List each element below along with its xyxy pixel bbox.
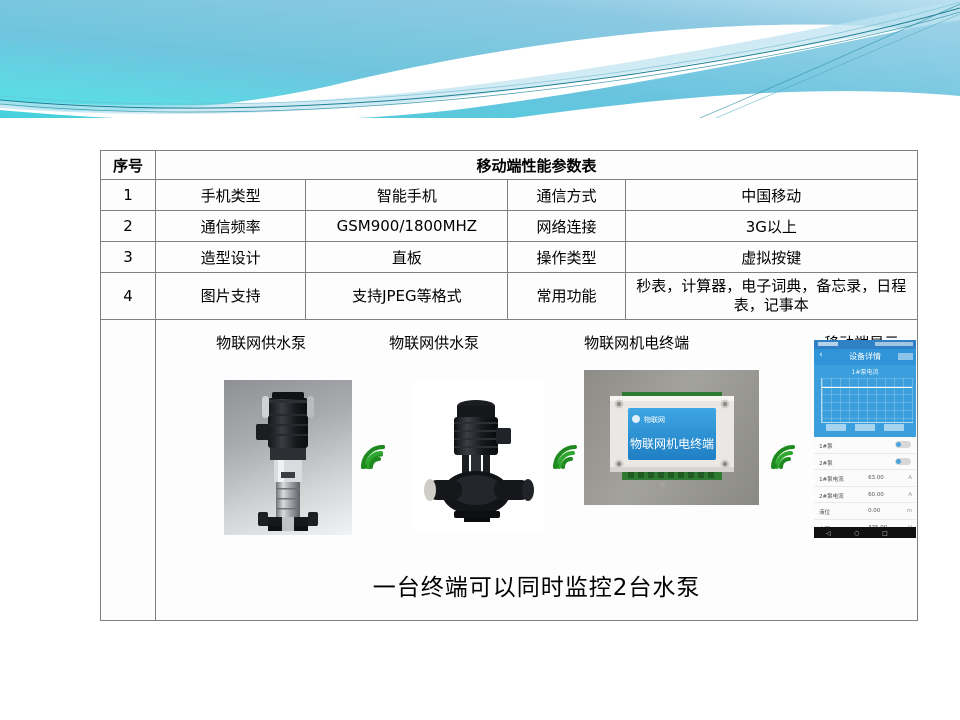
- row-key-2: 操作类型: [508, 242, 625, 273]
- row-value-1: GSM900/1800MHZ: [306, 211, 508, 242]
- list-item[interactable]: 液位 0.00 m: [814, 503, 916, 520]
- phone-system-nav: ◁ ○ □: [814, 527, 916, 538]
- list-item-label: 2#泵电流: [819, 492, 844, 500]
- media-row-index: [101, 320, 156, 621]
- photo-pump-inline: [414, 380, 544, 532]
- row-key-1: 手机类型: [156, 180, 306, 211]
- list-item[interactable]: 2#泵: [814, 454, 916, 471]
- list-item-unit: A: [908, 475, 912, 481]
- list-item-label: 1#泵电流: [819, 475, 844, 483]
- media-caption: 一台终端可以同时监控2台水泵: [156, 568, 917, 602]
- wave-banner: [0, 0, 960, 118]
- row-key-1: 通信频率: [156, 211, 306, 242]
- list-item[interactable]: 1#泵电流 63.00 A: [814, 470, 916, 487]
- status-carrier: [818, 342, 838, 346]
- table-row: 1 手机类型 智能手机 通信方式 中国移动: [101, 180, 918, 211]
- media-label-2: 物联网供水泵: [389, 332, 479, 353]
- list-item-unit: m: [907, 508, 912, 514]
- row-value-1: 智能手机: [306, 180, 508, 211]
- row-index: 4: [101, 273, 156, 320]
- table-header-index: 序号: [101, 151, 156, 180]
- list-item[interactable]: 1#泵: [814, 437, 916, 454]
- list-item-label: 2#泵: [819, 459, 833, 467]
- chart-range-button[interactable]: [884, 424, 904, 431]
- photo-terminal: 物联网 物联网机电终端: [584, 370, 759, 505]
- list-item-value: 63.00: [868, 475, 884, 481]
- nav-action-button[interactable]: [898, 353, 913, 360]
- row-value-2: 秒表，计算器，电子词典，备忘录，日程表，记事本: [625, 273, 917, 320]
- media-row: 物联网供水泵 物联网供水泵 物联网机电终端 移动端显示: [101, 320, 918, 621]
- list-item-value: 0.00: [868, 508, 880, 514]
- parameter-table: 序号 移动端性能参数表 1 手机类型 智能手机 通信方式 中国移动 2 通信频率…: [100, 150, 918, 621]
- pump-toggle-switch[interactable]: [895, 458, 911, 465]
- phone-nav-bar: ‹ 设备详情: [814, 349, 916, 365]
- nav-home-icon[interactable]: ○: [854, 530, 859, 537]
- nav-recents-icon[interactable]: □: [882, 530, 888, 537]
- row-key-1: 造型设计: [156, 242, 306, 273]
- row-key-2: 常用功能: [508, 273, 625, 320]
- list-item[interactable]: 2#泵电流 60.00 A: [814, 487, 916, 504]
- list-item-label: 液位: [819, 508, 830, 516]
- row-key-2: 通信方式: [508, 180, 625, 211]
- photo-phone: ‹ 设备详情 1#泵电流: [814, 340, 916, 538]
- svg-text:物联网: 物联网: [644, 415, 665, 424]
- row-key-2: 网络连接: [508, 211, 625, 242]
- table-row: 2 通信频率 GSM900/1800MHZ 网络连接 3G以上: [101, 211, 918, 242]
- media-label-3: 物联网机电终端: [584, 332, 689, 353]
- row-value-2: 虚拟按键: [625, 242, 917, 273]
- chart-range-buttons[interactable]: [814, 417, 916, 436]
- phone-detail-list: 1#泵 2#泵 1#泵电流 63.00 A: [814, 437, 916, 527]
- table-header-row: 序号 移动端性能参数表: [101, 151, 918, 180]
- phone-status-bar: [814, 340, 916, 349]
- chart-title: 1#泵电流: [814, 367, 916, 376]
- pump-toggle-switch[interactable]: [895, 441, 911, 448]
- row-value-1: 支持JPEG等格式: [306, 273, 508, 320]
- chart-range-button[interactable]: [855, 424, 875, 431]
- row-key-1: 图片支持: [156, 273, 306, 320]
- row-value-2: 3G以上: [625, 211, 917, 242]
- terminal-device-label: 物联网机电终端: [630, 436, 714, 451]
- list-item-unit: A: [908, 492, 912, 498]
- wifi-signal-icon-2: [548, 440, 582, 474]
- row-value-1: 直板: [306, 242, 508, 273]
- row-index: 3: [101, 242, 156, 273]
- row-index: 2: [101, 211, 156, 242]
- status-indicators: [875, 342, 913, 346]
- media-label-1: 物联网供水泵: [216, 332, 306, 353]
- table-title: 移动端性能参数表: [156, 151, 918, 180]
- wifi-signal-icon-3: [766, 440, 800, 474]
- phone-chart: 1#泵电流: [814, 365, 916, 437]
- list-item-value: 60.00: [868, 492, 884, 498]
- table-row: 3 造型设计 直板 操作类型 虚拟按键: [101, 242, 918, 273]
- chart-series-line: [822, 387, 912, 388]
- photo-pump-vertical: [224, 380, 352, 535]
- media-cell: 物联网供水泵 物联网供水泵 物联网机电终端 移动端显示: [156, 320, 918, 621]
- list-item-label: 1#泵: [819, 442, 833, 450]
- wifi-signal-icon-1: [356, 440, 390, 474]
- row-index: 1: [101, 180, 156, 211]
- slide-canvas: 序号 移动端性能参数表 1 手机类型 智能手机 通信方式 中国移动 2 通信频率…: [0, 0, 960, 720]
- nav-back-icon[interactable]: ◁: [826, 530, 831, 537]
- chart-range-button[interactable]: [826, 424, 846, 431]
- row-value-2: 中国移动: [625, 180, 917, 211]
- table-row: 4 图片支持 支持JPEG等格式 常用功能 秒表，计算器，电子词典，备忘录，日程…: [101, 273, 918, 320]
